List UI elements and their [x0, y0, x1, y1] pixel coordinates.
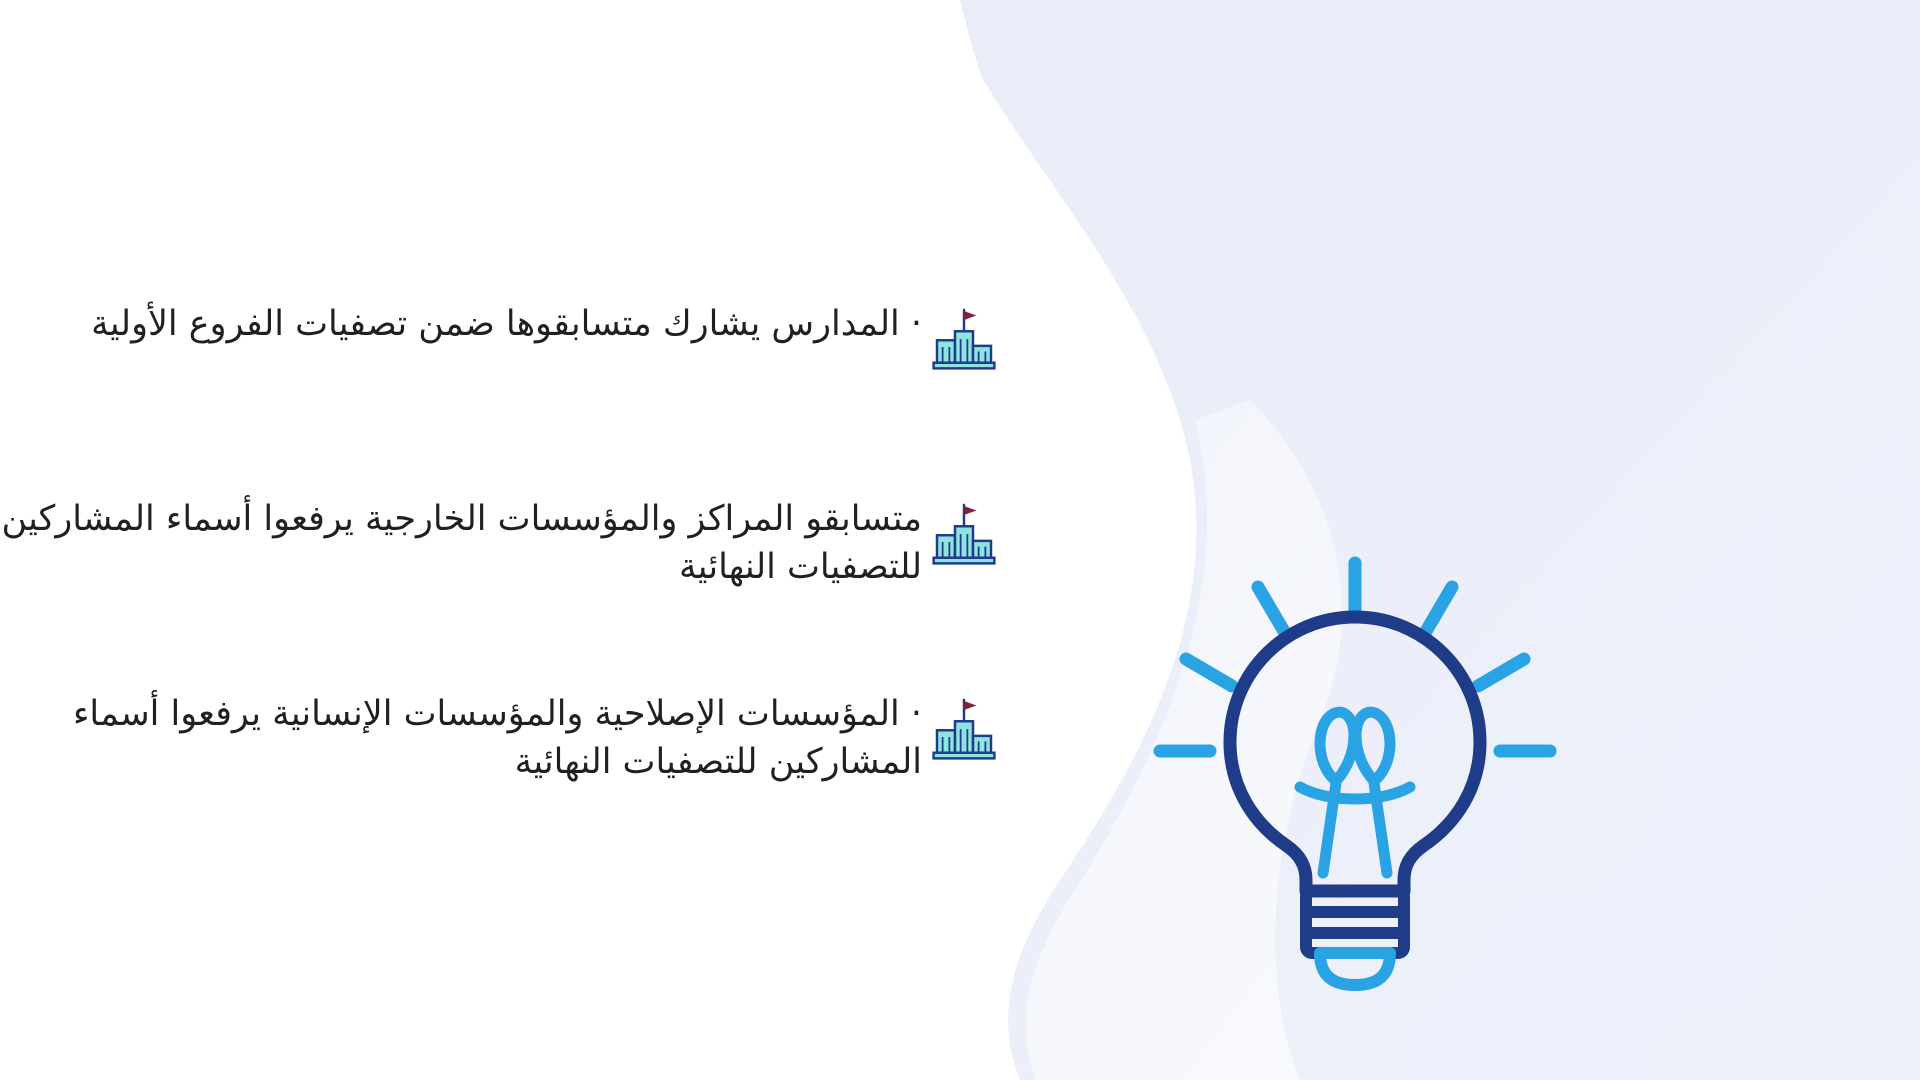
lightbulb-filament — [1300, 712, 1410, 873]
presentation-slide: · المدارس يشارك متسابقوها ضمن تصفيات الف… — [0, 0, 1920, 1080]
podium-winner-icon — [928, 497, 1000, 569]
lightbulb-base — [1306, 891, 1404, 953]
podium-winner-icon — [928, 302, 1000, 374]
list-item: متسابقو المراكز والمؤسسات الخارجية يرفعو… — [0, 495, 1000, 592]
list-item-label: · المؤسسات الإصلاحية والمؤسسات الإنسانية… — [0, 690, 922, 787]
lightbulb-idea-illustration — [1140, 555, 1570, 1005]
list-item-label: متسابقو المراكز والمؤسسات الخارجية يرفعو… — [0, 495, 922, 592]
list-item: · المدارس يشارك متسابقوها ضمن تصفيات الف… — [0, 300, 1000, 374]
lightbulb-cap — [1320, 953, 1390, 985]
list-item: · المؤسسات الإصلاحية والمؤسسات الإنسانية… — [0, 690, 1000, 787]
podium-winner-icon — [928, 692, 1000, 764]
list-item-label: · المدارس يشارك متسابقوها ضمن تصفيات الف… — [0, 300, 922, 348]
